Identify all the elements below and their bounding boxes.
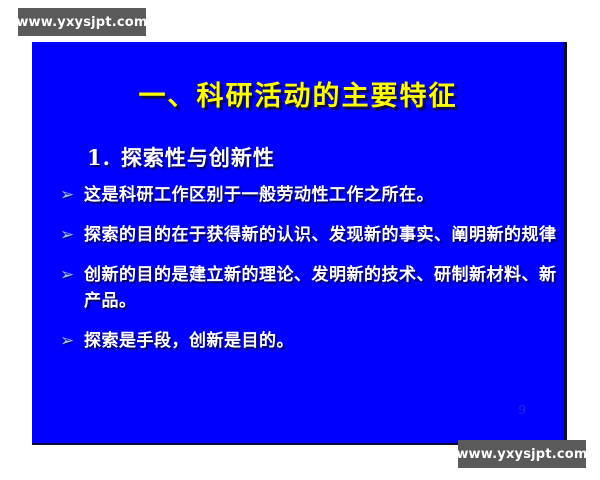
arrow-bullet-icon: ➢ (60, 222, 84, 248)
bullet-text: 探索的目的在于获得新的认识、发现新的事实、阐明新的规律 (84, 222, 560, 248)
watermark-bottom-right-text: www.yxysjpt.com (456, 447, 587, 462)
arrow-bullet-icon: ➢ (60, 182, 84, 208)
bullet-list: ➢ 这是科研工作区别于一般劳动性工作之所在。 ➢ 探索的目的在于获得新的认识、发… (60, 182, 560, 368)
watermark-bottom-right: www.yxysjpt.com (458, 440, 586, 468)
bullet-text: 创新的目的是建立新的理论、发明新的技术、研制新材料、新产品。 (84, 262, 560, 314)
bullet-text: 这是科研工作区别于一般劳动性工作之所在。 (84, 182, 560, 208)
bullet-item: ➢ 这是科研工作区别于一般劳动性工作之所在。 (60, 182, 560, 208)
bullet-item: ➢ 创新的目的是建立新的理论、发明新的技术、研制新材料、新产品。 (60, 262, 560, 314)
arrow-bullet-icon: ➢ (60, 262, 84, 288)
slide-subtitle-number: 1. (87, 145, 111, 170)
bullet-item: ➢ 探索的目的在于获得新的认识、发现新的事实、阐明新的规律 (60, 222, 560, 248)
watermark-top-left: www.yxysjpt.com (18, 8, 146, 36)
slide-subtitle-text: 探索性与创新性 (121, 145, 275, 170)
bullet-item: ➢ 探索是手段，创新是目的。 (60, 328, 560, 354)
slide-title: 一、科研活动的主要特征 (32, 74, 564, 113)
arrow-bullet-icon: ➢ (60, 328, 84, 354)
bullet-text: 探索是手段，创新是目的。 (84, 328, 560, 354)
presentation-slide: 一、科研活动的主要特征 1.探索性与创新性 ➢ 这是科研工作区别于一般劳动性工作… (32, 42, 567, 445)
slide-subtitle: 1.探索性与创新性 (87, 142, 275, 172)
slide-page-number: 9 (518, 403, 526, 417)
page-canvas: www.yxysjpt.com 一、科研活动的主要特征 1.探索性与创新性 ➢ … (0, 0, 600, 480)
watermark-top-left-text: www.yxysjpt.com (16, 15, 147, 30)
